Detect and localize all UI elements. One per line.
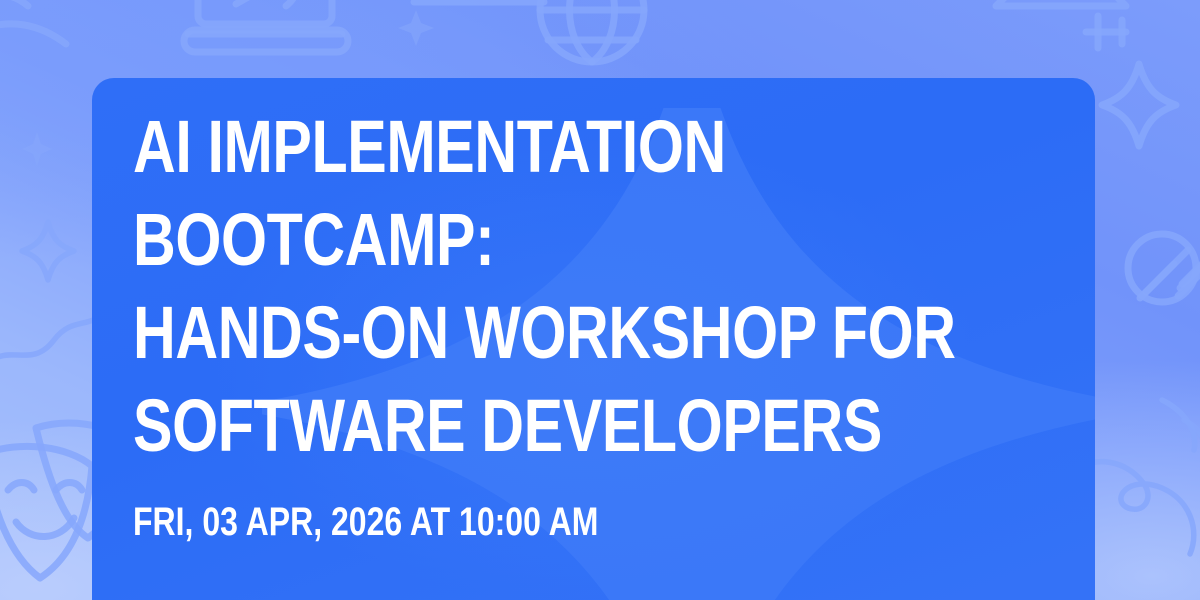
- event-banner: AI Implementation Bootcamp: Hands-on Wor…: [0, 0, 1200, 600]
- sparkle-icon: [1098, 60, 1180, 150]
- presentation-board-icon: [178, 0, 358, 84]
- laptop-icon: [986, 0, 1136, 56]
- sparkle-icon: [18, 218, 78, 284]
- laptop-icon: [404, 0, 554, 52]
- sparkle-icon: [396, 8, 436, 48]
- sparkle-icon: [20, 130, 54, 168]
- event-title: AI Implementation Bootcamp: Hands-on Wor…: [133, 100, 1071, 472]
- ticket-icon: [1078, 6, 1158, 56]
- event-datetime: Fri, 03 Apr, 2026 at 10:00 AM: [133, 472, 1071, 546]
- card-content: AI Implementation Bootcamp: Hands-on Wor…: [133, 100, 1071, 546]
- event-card: AI Implementation Bootcamp: Hands-on Wor…: [92, 78, 1095, 600]
- microphone-icon: [1128, 232, 1200, 352]
